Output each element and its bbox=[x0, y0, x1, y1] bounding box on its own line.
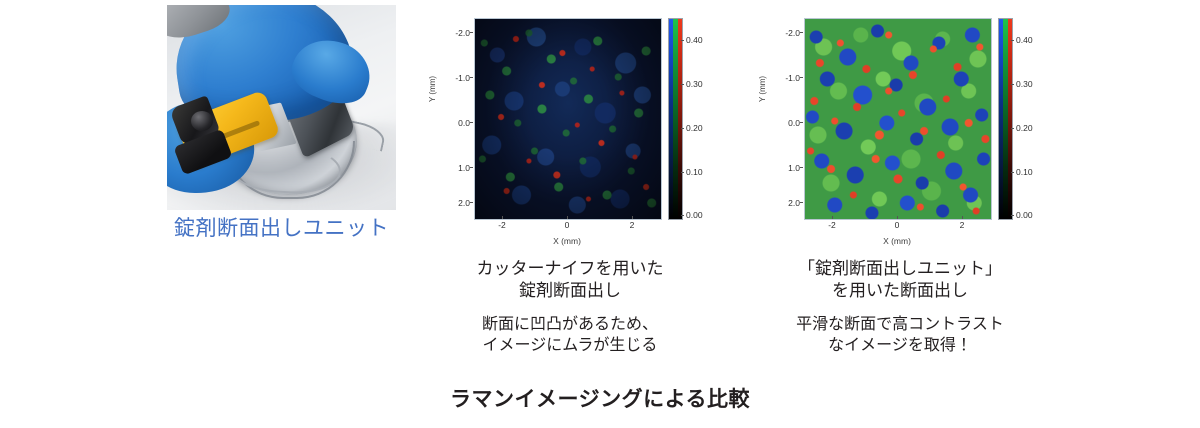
y-tick-label: 1.0 bbox=[458, 163, 470, 173]
y-tick-mark bbox=[800, 202, 803, 203]
colorbar-ticks: 0.40 0.30 0.20 0.10 0.00 bbox=[681, 18, 709, 218]
colorbar-tick-mark bbox=[681, 40, 684, 41]
y-tick-label: 1.0 bbox=[788, 163, 800, 173]
colorbar-tick-label: 0.20 bbox=[686, 123, 703, 133]
colorbar-tick-label: 0.20 bbox=[1016, 123, 1033, 133]
colorbar-tick-mark bbox=[681, 215, 684, 216]
colorbar-tick-label: 0.00 bbox=[1016, 210, 1033, 220]
y-tick-label: 0.0 bbox=[788, 118, 800, 128]
y-axis-label-left: Y (mm) bbox=[428, 76, 437, 102]
y-axis-ticks-left: -2.0 -1.0 0.0 1.0 2.0 bbox=[438, 18, 470, 218]
x-tick-label: 0 bbox=[565, 220, 570, 230]
colorbar-left: 0.40 0.30 0.20 0.10 0.00 bbox=[668, 18, 708, 218]
y-axis-label-right: Y (mm) bbox=[758, 76, 767, 102]
y-tick-mark bbox=[800, 32, 803, 33]
y-axis-ticks-right: -2.0 -1.0 0.0 1.0 2.0 bbox=[768, 18, 800, 218]
raman-vignette bbox=[475, 19, 661, 219]
x-axis-label-left: X (mm) bbox=[474, 236, 660, 246]
colorbar-tick-mark bbox=[1011, 84, 1014, 85]
x-tick-mark bbox=[632, 216, 633, 219]
tablet-cross-section-unit-photo bbox=[167, 5, 396, 210]
y-tick-mark bbox=[800, 77, 803, 78]
colorbar-tick-mark bbox=[1011, 128, 1014, 129]
x-tick-label: 2 bbox=[960, 220, 965, 230]
caption-body: 平滑な断面で高コントラスト なイメージを取得！ bbox=[755, 314, 1045, 357]
figure-caption-left: カッターナイフを用いた 錠剤断面出し 断面に凹凸があるため、 イメージにムラが生… bbox=[425, 258, 715, 357]
raman-figure-cutter-knife: Y (mm) -2.0 -1.0 0.0 1.0 2.0 -2 0 2 X (m… bbox=[430, 6, 710, 251]
x-axis-ticks-left: -2 0 2 bbox=[474, 220, 660, 236]
y-tick-label: -1.0 bbox=[785, 73, 800, 83]
y-tick-label: 0.0 bbox=[458, 118, 470, 128]
plot-area-left: Y (mm) -2.0 -1.0 0.0 1.0 2.0 -2 0 2 X (m… bbox=[430, 6, 710, 251]
colorbar-tick-label: 0.10 bbox=[1016, 167, 1033, 177]
colorbar-ticks: 0.40 0.30 0.20 0.10 0.00 bbox=[1011, 18, 1039, 218]
x-tick-mark bbox=[502, 216, 503, 219]
y-tick-mark bbox=[470, 202, 473, 203]
colorbar-right: 0.40 0.30 0.20 0.10 0.00 bbox=[998, 18, 1038, 218]
x-axis-label-right: X (mm) bbox=[804, 236, 990, 246]
y-tick-mark bbox=[800, 167, 803, 168]
plot-area-right: Y (mm) -2.0 -1.0 0.0 1.0 2.0 -2 0 2 X (m… bbox=[760, 6, 1040, 251]
x-tick-mark bbox=[567, 216, 568, 219]
colorbar-tick-label: 0.40 bbox=[686, 35, 703, 45]
page-title: ラマンイメージングによる比較 bbox=[0, 383, 1200, 413]
x-tick-label: 0 bbox=[895, 220, 900, 230]
x-tick-mark bbox=[897, 216, 898, 219]
x-tick-label: -2 bbox=[828, 220, 836, 230]
colorbar-tick-label: 0.10 bbox=[686, 167, 703, 177]
x-tick-mark bbox=[962, 216, 963, 219]
y-tick-mark bbox=[470, 122, 473, 123]
y-tick-mark bbox=[470, 32, 473, 33]
x-axis-ticks-right: -2 0 2 bbox=[804, 220, 990, 236]
y-tick-mark bbox=[470, 167, 473, 168]
x-tick-label: 2 bbox=[630, 220, 635, 230]
colorbar-tick-mark bbox=[681, 172, 684, 173]
colorbar-tick-mark bbox=[1011, 40, 1014, 41]
x-tick-mark bbox=[832, 216, 833, 219]
figure-caption-right: 「錠剤断面出しユニット」 を用いた断面出し 平滑な断面で高コントラスト なイメー… bbox=[755, 258, 1045, 357]
colorbar-tick-mark bbox=[681, 128, 684, 129]
colorbar-tick-mark bbox=[681, 84, 684, 85]
y-tick-mark bbox=[470, 77, 473, 78]
y-tick-label: -2.0 bbox=[455, 28, 470, 38]
cutter-knife-slider-knob bbox=[191, 111, 213, 131]
y-tick-label: 2.0 bbox=[788, 198, 800, 208]
y-tick-label: -1.0 bbox=[455, 73, 470, 83]
raman-figure-cross-section-unit: Y (mm) -2.0 -1.0 0.0 1.0 2.0 -2 0 2 X (m… bbox=[760, 6, 1040, 251]
photo-panel: 錠剤断面出しユニット bbox=[167, 5, 396, 240]
colorbar-tick-label: 0.40 bbox=[1016, 35, 1033, 45]
colorbar-tick-label: 0.00 bbox=[686, 210, 703, 220]
y-tick-mark bbox=[800, 122, 803, 123]
colorbar-tick-label: 0.30 bbox=[1016, 79, 1033, 89]
y-tick-label: -2.0 bbox=[785, 28, 800, 38]
raman-red-component bbox=[805, 19, 991, 219]
caption-body: 断面に凹凸があるため、 イメージにムラが生じる bbox=[425, 314, 715, 357]
caption-title: 「錠剤断面出しユニット」 を用いた断面出し bbox=[755, 258, 1045, 303]
raman-image-map-left bbox=[474, 18, 662, 220]
colorbar-tick-label: 0.30 bbox=[686, 79, 703, 89]
x-tick-label: -2 bbox=[498, 220, 506, 230]
caption-title: カッターナイフを用いた 錠剤断面出し bbox=[425, 258, 715, 303]
colorbar-tick-mark bbox=[1011, 172, 1014, 173]
raman-image-map-right bbox=[804, 18, 992, 220]
colorbar-tick-mark bbox=[1011, 215, 1014, 216]
y-tick-label: 2.0 bbox=[458, 198, 470, 208]
photo-caption: 錠剤断面出しユニット bbox=[167, 217, 396, 240]
